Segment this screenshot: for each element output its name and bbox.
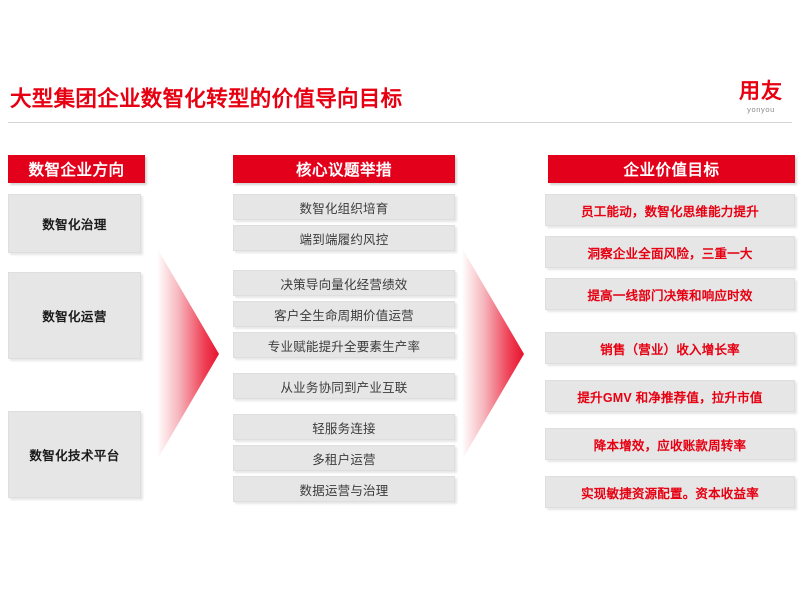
card-direction-governance: 数智化治理 xyxy=(8,194,141,253)
card-measure-industry-internet: 从业务协同到产业互联 xyxy=(233,373,455,399)
column-header-direction: 数智企业方向 xyxy=(8,155,145,183)
card-goal-employee-enablement: 员工能动，数智化思维能力提升 xyxy=(545,194,795,226)
card-goal-gmv-nps-market-value: 提升GMV 和净推荐值，拉升市值 xyxy=(545,380,795,412)
brand-logo-en: yonyou xyxy=(728,105,794,115)
card-measure-e2e-risk-control: 端到端履约风控 xyxy=(233,225,455,251)
brand-logo-cn: 用友 xyxy=(728,80,794,104)
slide-canvas: 大型集团企业数智化转型的价值导向目标 用友 yonyou 数智企业方向 核心议题… xyxy=(0,0,800,600)
card-measure-org-cultivation: 数智化组织培育 xyxy=(233,194,455,220)
card-measure-customer-lifecycle: 客户全生命周期价值运营 xyxy=(233,301,455,327)
card-goal-agile-resource-roic: 实现敏捷资源配置。资本收益率 xyxy=(545,476,795,508)
column-header-value-goals: 企业价值目标 xyxy=(548,155,795,183)
card-goal-frontline-decision-speed: 提高一线部门决策和响应时效 xyxy=(545,278,795,310)
card-measure-multi-tenant: 多租户运营 xyxy=(233,445,455,471)
card-goal-cost-reduction-ar-turnover: 降本增效，应收账款周转率 xyxy=(545,428,795,460)
title-area: 大型集团企业数智化转型的价值导向目标 xyxy=(0,84,800,126)
card-goal-revenue-growth: 销售（营业）收入增长率 xyxy=(545,332,795,364)
card-measure-light-service: 轻服务连接 xyxy=(233,414,455,440)
title-divider xyxy=(8,122,792,123)
card-direction-operations: 数智化运营 xyxy=(8,272,141,359)
arrow-direction-to-measures xyxy=(157,248,219,460)
brand-logo: 用友 yonyou xyxy=(728,80,794,115)
card-measure-data-governance: 数据运营与治理 xyxy=(233,476,455,502)
card-direction-tech-platform: 数智化技术平台 xyxy=(8,411,141,498)
card-measure-decision-performance: 决策导向量化经营绩效 xyxy=(233,270,455,296)
card-goal-risk-insight: 洞察企业全面风险，三重一大 xyxy=(545,236,795,268)
arrow-measures-to-goals xyxy=(462,248,524,460)
card-measure-productivity: 专业赋能提升全要素生产率 xyxy=(233,332,455,358)
column-header-measures: 核心议题举措 xyxy=(233,155,455,183)
page-title: 大型集团企业数智化转型的价值导向目标 xyxy=(10,84,402,114)
